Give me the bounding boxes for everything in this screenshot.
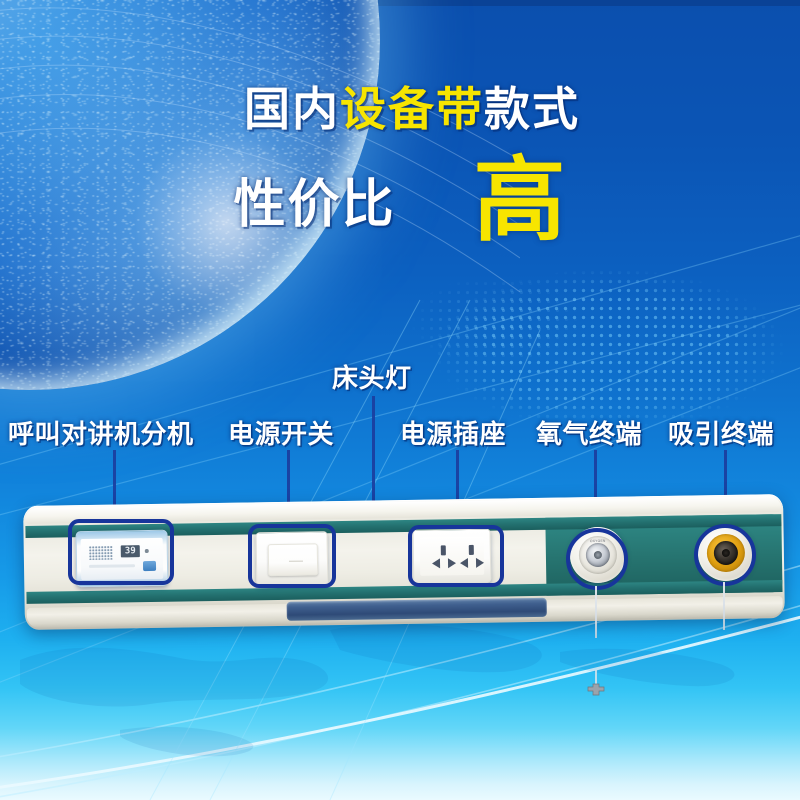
suction-hose-cord: [723, 582, 725, 630]
subtitle-emphasis-text: 高: [474, 160, 567, 243]
socket-pin-vertical: [469, 545, 474, 555]
power-switch-unit[interactable]: [256, 531, 329, 586]
intercom-display: 39: [121, 545, 140, 557]
socket-faceplate: [420, 537, 485, 576]
world-map-dots-secondary: [400, 270, 640, 400]
callout-label-switch: 电源开关: [228, 414, 334, 451]
bed-lamp-strip[interactable]: [287, 598, 547, 621]
subtitle-row: 性价比 高: [0, 168, 800, 243]
headline-part-3: 款式: [484, 83, 580, 135]
status-led-icon: [145, 549, 149, 553]
socket-pin-left: [460, 558, 468, 568]
socket-pin-right: [448, 558, 456, 568]
continent-silhouettes: [0, 600, 800, 800]
callout-label-socket: 电源插座: [400, 414, 506, 451]
subtitle-value-text: 性价比: [233, 179, 395, 231]
callout-label-intercom: 呼叫对讲机分机: [8, 414, 194, 451]
oxygen-terminal-core: [594, 551, 602, 559]
page-title: 国内设备带款式: [0, 86, 800, 132]
promo-image-canvas: 国内设备带款式 性价比 高 呼叫对讲机分机 电源开关 床头灯 电源插座 氧气终端…: [0, 0, 800, 800]
rocker-indicator-line: [289, 561, 303, 562]
suction-terminal-port: [714, 541, 738, 565]
socket-pin-vertical: [441, 545, 446, 555]
socket-outlet-1[interactable]: [432, 545, 456, 569]
power-socket-unit[interactable]: [412, 529, 491, 584]
intercom-face: 39: [81, 538, 164, 580]
speaker-grille-icon: [89, 546, 113, 560]
socket-pin-right: [476, 558, 484, 568]
callout-label-suction: 吸引终端: [668, 414, 774, 451]
suction-terminal-ring: [707, 534, 746, 573]
bed-head-unit-panel: 39: [23, 494, 785, 630]
rocker-switch[interactable]: [268, 543, 318, 576]
call-button-pendant[interactable]: [585, 670, 607, 696]
headline-part-1: 国内: [244, 83, 340, 135]
socket-pin-left: [432, 558, 440, 568]
intercom-slot: [89, 564, 135, 568]
oxygen-terminal-ring: OXYGEN: [579, 536, 618, 575]
nurse-call-intercom-unit[interactable]: 39: [75, 530, 168, 587]
suction-terminal-core: [722, 549, 730, 557]
callout-label-oxygen: 氧气终端: [536, 414, 642, 451]
headline-part-2-highlight: 设备带: [340, 83, 484, 135]
oxygen-terminal-port: [586, 543, 610, 567]
callout-label-bedlamp: 床头灯: [332, 358, 412, 395]
intercom-call-button[interactable]: [143, 561, 156, 571]
oxygen-hose-cord: [595, 586, 597, 638]
socket-outlet-2[interactable]: [460, 545, 484, 569]
